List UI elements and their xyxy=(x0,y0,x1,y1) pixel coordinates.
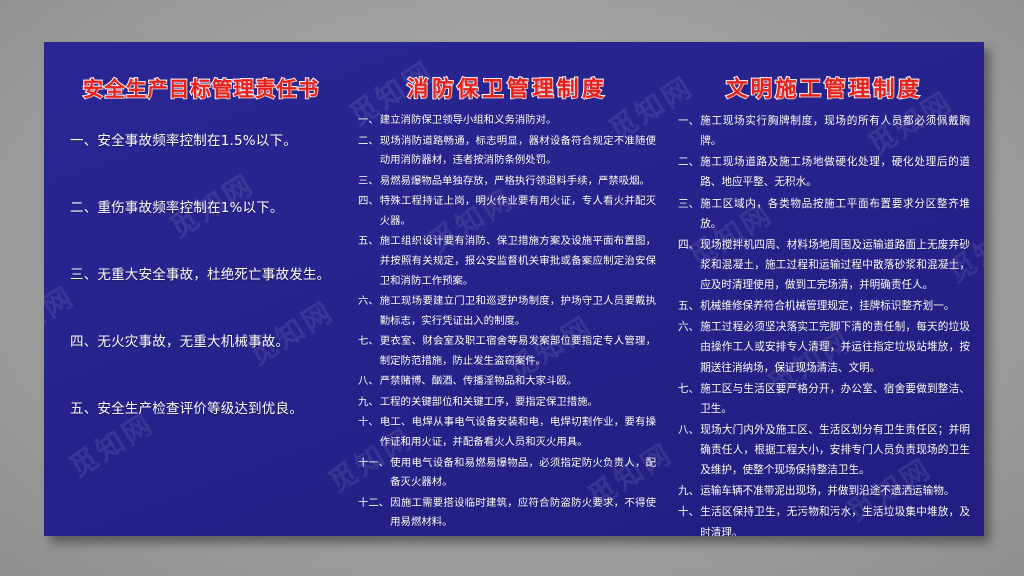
rule-text: 特殊工程持证上岗，明火作业要有用火证，专人看火并配灭火器。 xyxy=(380,192,656,231)
rule-text: 施工现场实行胸牌制度，现场的所有人员都必须佩戴胸牌。 xyxy=(700,111,970,151)
rule-text: 施工现场要建立门卫和巡逻护场制度，护场守卫人员要戴执勤标志，实行凭证出入的制度。 xyxy=(380,292,656,331)
rule-text: 现场大门内外及施工区、生活区划分有卫生责任区；并明确责任人，根据工程大小，安排专… xyxy=(700,420,970,480)
rule-number: 十三、 xyxy=(358,534,390,536)
rule-item: 八、现场大门内外及施工区、生活区划分有卫生责任区；并明确责任人，根据工程大小，安… xyxy=(678,420,970,480)
rule-item: 六、施工现场要建立门卫和巡逻护场制度，护场守卫人员要戴执勤标志，实行凭证出入的制… xyxy=(358,292,656,331)
rule-text: 施工区与生活区要严格分开，办公室、宿舍要做到整洁、卫生。 xyxy=(700,379,970,419)
rule-item: 十二、因施工需要搭设临时建筑，应符合防盗防火要求，不得使用易燃材料。 xyxy=(358,494,656,533)
rule-number: 一、 xyxy=(358,111,380,131)
rule-item: 一、建立消防保卫领导小组和义务消防对。 xyxy=(358,111,656,131)
rule-text: 现场搅拌机四周、材料场地周围及运输道路面上无废弃砂浆和混凝土，施工过程和运输过程… xyxy=(700,235,970,295)
rule-number: 六、 xyxy=(358,292,380,312)
rule-number: 三、 xyxy=(358,172,380,192)
rule-text: 电工、电焊从事电气设备安装和电，电焊切割作业，要有操作证和用火证，并配备看火人员… xyxy=(380,413,656,452)
civilized-construction-rule-list: 一、施工现场实行胸牌制度，现场的所有人员都必须佩戴胸牌。二、施工现场道路及施工场… xyxy=(678,111,970,536)
column-1-title: 安全生产目标管理责任书 xyxy=(70,72,332,102)
column-3-title: 文明施工管理制度 xyxy=(678,72,970,103)
rule-item: 九、工程的关键部位和关键工序，要指定保卫措施。 xyxy=(358,393,656,413)
rule-number: 四、 xyxy=(358,192,380,212)
goal-list: 一、安全事故频率控制在1.5%以下。 二、重伤事故频率控制在1%以下。 三、无重… xyxy=(70,132,332,418)
rule-number: 十、 xyxy=(358,413,380,433)
rule-number: 九、 xyxy=(358,393,380,413)
column-2-title: 消防保卫管理制度 xyxy=(358,72,656,103)
rule-item: 四、特殊工程持证上岗，明火作业要有用火证，专人看火并配灭火器。 xyxy=(358,192,656,231)
rule-number: 七、 xyxy=(358,332,380,352)
rule-item: 八、严禁赌博、酗酒、传播淫物品和大家斗殴。 xyxy=(358,372,656,392)
rule-number: 二、 xyxy=(358,132,380,152)
rule-text: 在施工程要坚持防火安全交底制度。 xyxy=(390,534,656,536)
rule-text: 施工现场道路及施工场地做硬化处理，硬化处理后的道路、地应平整、无积水。 xyxy=(700,152,970,192)
rule-text: 使用电气设备和易燃易爆物品，必须指定防火负责人，配备灭火器材。 xyxy=(390,454,656,493)
goal-item: 一、安全事故频率控制在1.5%以下。 xyxy=(70,132,332,151)
screenshot-stage: 觅知网觅知网觅知网觅知网觅知网觅知网觅知网觅知网觅知网觅知网觅知网觅知网觅知网觅… xyxy=(0,0,1024,576)
rule-number: 三、 xyxy=(678,194,700,214)
column-civilized-construction-management: 文明施工管理制度 一、施工现场实行胸牌制度，现场的所有人员都必须佩戴胸牌。二、施… xyxy=(668,42,984,536)
goal-item: 四、无火灾事故，无重大机械事故。 xyxy=(70,333,332,352)
rule-number: 十一、 xyxy=(358,454,390,474)
rule-item: 五、施工组织设计要有消防、保卫措施方案及设施平面布置图，并按照有关规定，报公安监… xyxy=(358,232,656,291)
rule-text: 施工区域内，各类物品按施工平面布置要求分区整齐堆放。 xyxy=(700,194,970,234)
rule-text: 运输车辆不准带泥出现场，并做到沿途不遗洒运输物。 xyxy=(700,481,970,501)
safety-signboard: 觅知网觅知网觅知网觅知网觅知网觅知网觅知网觅知网觅知网觅知网觅知网觅知网觅知网觅… xyxy=(44,42,984,536)
rule-item: 九、运输车辆不准带泥出现场，并做到沿途不遗洒运输物。 xyxy=(678,481,970,501)
rule-number: 六、 xyxy=(678,317,700,337)
rule-item: 一、施工现场实行胸牌制度，现场的所有人员都必须佩戴胸牌。 xyxy=(678,111,970,151)
rule-item: 三、施工区域内，各类物品按施工平面布置要求分区整齐堆放。 xyxy=(678,194,970,234)
rule-number: 八、 xyxy=(358,372,380,392)
rule-number: 十二、 xyxy=(358,494,390,514)
rule-number: 七、 xyxy=(678,379,700,399)
rule-text: 机械维修保养符合机械管理规定，挂牌标识整齐划一。 xyxy=(700,296,970,316)
rule-item: 二、施工现场道路及施工场地做硬化处理，硬化处理后的道路、地应平整、无积水。 xyxy=(678,152,970,192)
rule-item: 七、施工区与生活区要严格分开，办公室、宿舍要做到整洁、卫生。 xyxy=(678,379,970,419)
rule-item: 十三、在施工程要坚持防火安全交底制度。 xyxy=(358,534,656,536)
goal-item: 五、安全生产检查评价等级达到优良。 xyxy=(70,400,332,419)
rule-item: 十、电工、电焊从事电气设备安装和电，电焊切割作业，要有操作证和用火证，并配备看火… xyxy=(358,413,656,452)
rule-item: 六、施工过程必须坚决落实工完脚下清的责任制，每天的垃圾由操作工人或安排专人清理，… xyxy=(678,317,970,377)
rule-text: 生活区保持卫生，无污物和污水，生活垃圾集中堆放，及时清理。 xyxy=(700,502,970,536)
rule-number: 十、 xyxy=(678,502,700,522)
goal-item: 三、无重大安全事故，杜绝死亡事故发生。 xyxy=(70,266,332,285)
rule-text: 易燃易爆物品单独存放，严格执行领退料手续，严禁吸烟。 xyxy=(380,172,656,192)
rule-text: 施工过程必须坚决落实工完脚下清的责任制，每天的垃圾由操作工人或安排专人清理，并运… xyxy=(700,317,970,377)
rule-number: 二、 xyxy=(678,152,700,172)
rule-item: 十一、使用电气设备和易燃易爆物品，必须指定防火负责人，配备灭火器材。 xyxy=(358,454,656,493)
rule-item: 四、现场搅拌机四周、材料场地周围及运输道路面上无废弃砂浆和混凝土，施工过程和运输… xyxy=(678,235,970,295)
rule-text: 因施工需要搭设临时建筑，应符合防盗防火要求，不得使用易燃材料。 xyxy=(390,494,656,533)
rule-item: 十、生活区保持卫生，无污物和污水，生活垃圾集中堆放，及时清理。 xyxy=(678,502,970,536)
fire-security-rule-list: 一、建立消防保卫领导小组和义务消防对。二、现场消防道路畅通，标志明显，器材设备符… xyxy=(358,111,656,536)
rule-text: 施工组织设计要有消防、保卫措施方案及设施平面布置图，并按照有关规定，报公安监督机… xyxy=(380,232,656,291)
rule-text: 严禁赌博、酗酒、传播淫物品和大家斗殴。 xyxy=(380,372,656,392)
rule-item: 七、更衣室、财会室及职工宿舍等易发案部位要指定专人管理，制定防范措施，防止发生盗… xyxy=(358,332,656,371)
goal-item: 二、重伤事故频率控制在1%以下。 xyxy=(70,199,332,218)
rule-number: 八、 xyxy=(678,420,700,440)
column-safety-production-goal: 安全生产目标管理责任书 一、安全事故频率控制在1.5%以下。 二、重伤事故频率控… xyxy=(44,42,350,536)
board-columns: 安全生产目标管理责任书 一、安全事故频率控制在1.5%以下。 二、重伤事故频率控… xyxy=(44,42,984,536)
rule-number: 九、 xyxy=(678,481,700,501)
rule-number: 五、 xyxy=(678,296,700,316)
rule-number: 五、 xyxy=(358,232,380,252)
rule-item: 二、现场消防道路畅通，标志明显，器材设备符合规定不准随便动用消防器材，违者按消防… xyxy=(358,132,656,171)
rule-number: 四、 xyxy=(678,235,700,255)
rule-text: 现场消防道路畅通，标志明显，器材设备符合规定不准随便动用消防器材，违者按消防条例… xyxy=(380,132,656,171)
rule-text: 建立消防保卫领导小组和义务消防对。 xyxy=(380,111,656,131)
rule-item: 五、机械维修保养符合机械管理规定，挂牌标识整齐划一。 xyxy=(678,296,970,316)
rule-item: 三、易燃易爆物品单独存放，严格执行领退料手续，严禁吸烟。 xyxy=(358,172,656,192)
rule-text: 工程的关键部位和关键工序，要指定保卫措施。 xyxy=(380,393,656,413)
column-fire-security-management: 消防保卫管理制度 一、建立消防保卫领导小组和义务消防对。二、现场消防道路畅通，标… xyxy=(350,42,668,536)
rule-text: 更衣室、财会室及职工宿舍等易发案部位要指定专人管理，制定防范措施，防止发生盗窃案… xyxy=(380,332,656,371)
rule-number: 一、 xyxy=(678,111,700,131)
